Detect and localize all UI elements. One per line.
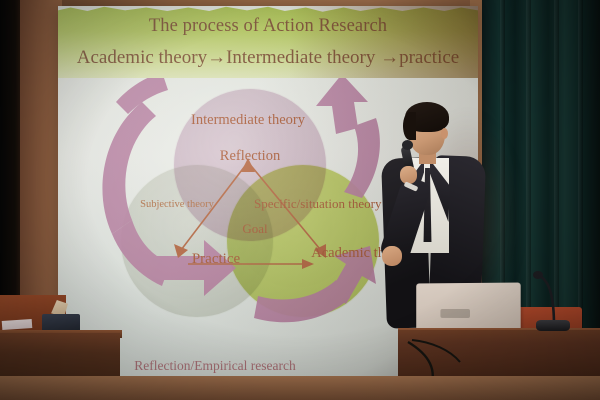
slide-title: The process of Action Research [58,16,478,37]
label-reflection: Reflection [170,148,330,165]
hand-lower [382,246,402,266]
lecture-photo: Intermediate theory Reflection Subjectiv… [0,0,600,400]
hand-holding-mic [400,166,417,184]
microphone-base [536,320,570,331]
hair-side [403,112,416,140]
microphone-head-icon [402,140,413,150]
label-subjective-theory: Subjective theory [102,199,252,210]
label-goal: Goal [210,221,300,237]
label-intermediate-theory: Intermediate theory [168,111,328,130]
floor [0,376,600,400]
slide-subtitle: Academic theory→Intermediate theory →pra… [58,47,478,69]
laptop-logo [440,309,470,318]
ear [441,128,448,139]
gooseneck-microphone [520,268,580,338]
label-practice: Practice [166,251,266,268]
